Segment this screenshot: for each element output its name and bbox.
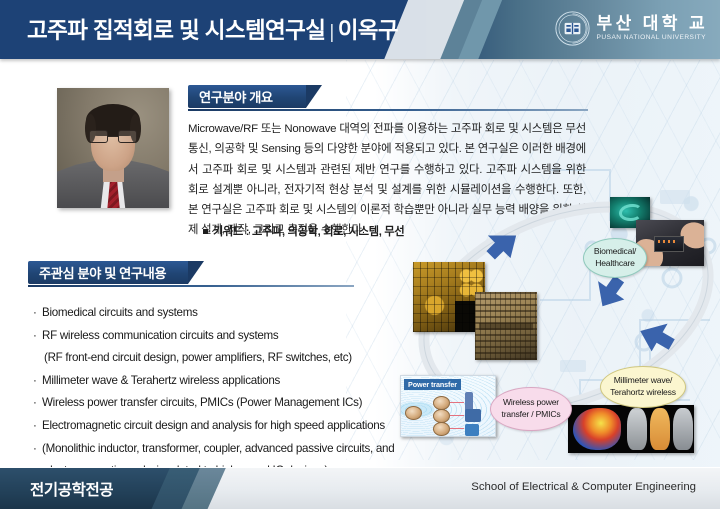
list-item: ·Biomedical circuits and systems bbox=[33, 302, 453, 325]
title-separator: | bbox=[329, 22, 333, 43]
power-transfer-label: Power transfer bbox=[404, 379, 461, 390]
copper-pcb-circuit-image bbox=[475, 292, 537, 360]
list-item: ·(Monolithic inductor, transformer, coup… bbox=[33, 438, 453, 461]
receive-coil bbox=[433, 422, 450, 436]
banner-tab-interest: 주관심 분야 및 연구내용 bbox=[28, 261, 188, 284]
university-name-english: PUSAN NATIONAL UNIVERSITY bbox=[597, 35, 708, 42]
transmit-coil bbox=[405, 406, 422, 420]
callout-line1: Biomedical/ bbox=[594, 246, 636, 256]
callout-biomedical-healthcare: Biomedical/Healthcare bbox=[583, 238, 647, 278]
thermal-brain-scan bbox=[573, 408, 621, 450]
callout-line1: Millimeter wave/ bbox=[614, 375, 672, 385]
list-item-label: Millimeter wave & Terahertz wireless app… bbox=[42, 374, 280, 387]
banner-tab-overview: 연구분야 개요 bbox=[188, 85, 306, 108]
list-item-label: Wireless power transfer circuits, PMICs … bbox=[42, 396, 362, 409]
wireless-power-transfer-diagram: Power transfer bbox=[400, 375, 496, 437]
bullet-dot-icon: · bbox=[33, 392, 42, 415]
bullet-dot-icon: · bbox=[33, 370, 42, 393]
receive-coil bbox=[433, 409, 450, 423]
university-seal-icon bbox=[555, 11, 590, 46]
receive-coil bbox=[433, 396, 450, 410]
portrait-glasses bbox=[89, 130, 136, 143]
university-name-block: 부산 대학 교 PUSAN NATIONAL UNIVERSITY bbox=[597, 15, 708, 42]
device-screen bbox=[654, 236, 684, 253]
callout-text: Wireless powertransfer / PMICs bbox=[502, 397, 561, 420]
research-application-diagram: Power transfer Biomedical/Healthcare Wir… bbox=[398, 190, 720, 462]
professor-portrait-photo bbox=[57, 88, 169, 208]
callout-line2: Healthcare bbox=[595, 258, 635, 268]
banner-label-overview: 연구분야 개요 bbox=[199, 87, 273, 106]
list-item: ·Electromagnetic circuit design and anal… bbox=[33, 415, 453, 438]
callout-text: Biomedical/Healthcare bbox=[594, 246, 636, 269]
charger-icon bbox=[465, 424, 479, 436]
lab-title-text: 고주파 집적회로 및 시스템연구실 bbox=[27, 18, 325, 43]
television-icon bbox=[465, 409, 481, 422]
bullet-dot-icon: · bbox=[33, 325, 42, 348]
connection-wire bbox=[450, 415, 464, 416]
callout-wireless-power-transfer: Wireless powertransfer / PMICs bbox=[490, 387, 572, 431]
list-item: ·Millimeter wave & Terahertz wireless ap… bbox=[33, 370, 453, 393]
slide-header: 고주파 집적회로 및 시스템연구실|이옥구 부산 대학 교 PUSAN NATI… bbox=[0, 0, 720, 59]
banner-rule-overview bbox=[188, 109, 588, 111]
list-item: ·RF wireless communication circuits and … bbox=[33, 325, 453, 348]
bullet-dot-icon: · bbox=[33, 415, 42, 438]
callout-text: Millimeter wave/Terahortz wireless bbox=[610, 375, 676, 398]
connection-wire bbox=[450, 402, 464, 403]
connection-wire bbox=[450, 428, 464, 429]
banner-label-interest: 주관심 분야 및 연구내용 bbox=[39, 263, 166, 282]
callout-line2: transfer / PMICs bbox=[502, 409, 561, 419]
brain-swirl-shape bbox=[619, 204, 642, 220]
keywords-line: 키워드 : 고주파, 의공학, 회로, 시스템, 무선 bbox=[203, 223, 404, 239]
keywords-text: 키워드 : 고주파, 의공학, 회로, 시스템, 무선 bbox=[213, 226, 404, 238]
footer-school-english: School of Electrical & Computer Engineer… bbox=[471, 481, 696, 493]
callout-line2: Terahortz wireless bbox=[610, 387, 676, 397]
list-item-label: (Monolithic inductor, transformer, coupl… bbox=[42, 442, 394, 455]
square-bullet-icon bbox=[203, 229, 208, 234]
pcb-traces bbox=[475, 292, 537, 360]
slide-canvas: 고주파 집적회로 및 시스템연구실|이옥구 부산 대학 교 PUSAN NATI… bbox=[0, 0, 720, 509]
list-item-label: RF wireless communication circuits and s… bbox=[42, 329, 278, 342]
list-item: (RF front-end circuit design, power ampl… bbox=[33, 347, 453, 370]
banner-rule-interest bbox=[28, 285, 354, 287]
list-item-label: Biomedical circuits and systems bbox=[42, 306, 198, 319]
body-figure bbox=[673, 408, 693, 450]
section-banner-overview: 연구분야 개요 bbox=[188, 85, 588, 111]
university-logo: 부산 대학 교 PUSAN NATIONAL UNIVERSITY bbox=[555, 11, 708, 46]
callout-millimeter-wave-terahertz: Millimeter wave/Terahortz wireless bbox=[600, 366, 686, 408]
professor-name: 이옥구 bbox=[338, 18, 398, 43]
body-figure bbox=[627, 408, 647, 450]
body-figure-highlighted bbox=[650, 408, 670, 450]
interest-list: ·Biomedical circuits and systems ·RF wir… bbox=[33, 302, 453, 483]
section-banner-interest: 주관심 분야 및 연구내용 bbox=[28, 261, 354, 287]
bullet-dot-icon: · bbox=[33, 302, 42, 325]
thermal-brain-and-body-scan-image bbox=[568, 405, 694, 453]
university-name-korean: 부산 대학 교 bbox=[597, 15, 708, 32]
bullet-dot-icon: · bbox=[33, 438, 42, 461]
footer-major-korean: 전기공학전공 bbox=[30, 478, 113, 500]
list-item: ·Wireless power transfer circuits, PMICs… bbox=[33, 392, 453, 415]
page-title: 고주파 집적회로 및 시스템연구실|이옥구 bbox=[27, 13, 398, 45]
slide-footer: 전기공학전공 School of Electrical & Computer E… bbox=[0, 467, 720, 509]
list-item-label: Electromagnetic circuit design and analy… bbox=[42, 419, 385, 432]
list-item-label: (RF front-end circuit design, power ampl… bbox=[44, 351, 352, 364]
callout-line1: Wireless power bbox=[503, 397, 559, 407]
